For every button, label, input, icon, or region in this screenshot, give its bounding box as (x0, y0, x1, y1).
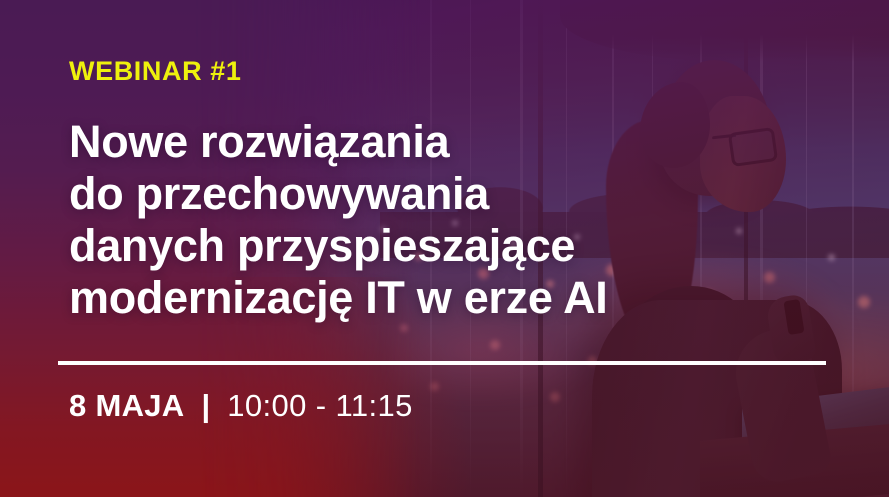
webinar-eyebrow: WEBINAR #1 (69, 58, 242, 85)
event-meta: 8 MAJA | 10:00 - 11:15 (69, 388, 413, 424)
divider-rule (58, 361, 826, 365)
headline-line-4: modernizację IT w erze AI (69, 272, 608, 324)
headline: Nowe rozwiązania do przechowywania danyc… (69, 116, 608, 324)
event-time: 10:00 - 11:15 (227, 388, 413, 424)
meta-separator: | (202, 388, 211, 424)
headline-line-1: Nowe rozwiązania (69, 116, 608, 168)
event-date: 8 MAJA (69, 388, 185, 424)
headline-line-3: danych przyspieszające (69, 220, 608, 272)
banner-content: WEBINAR #1 Nowe rozwiązania do przechowy… (0, 0, 889, 497)
headline-line-2: do przechowywania (69, 168, 608, 220)
webinar-banner: WEBINAR #1 Nowe rozwiązania do przechowy… (0, 0, 889, 497)
